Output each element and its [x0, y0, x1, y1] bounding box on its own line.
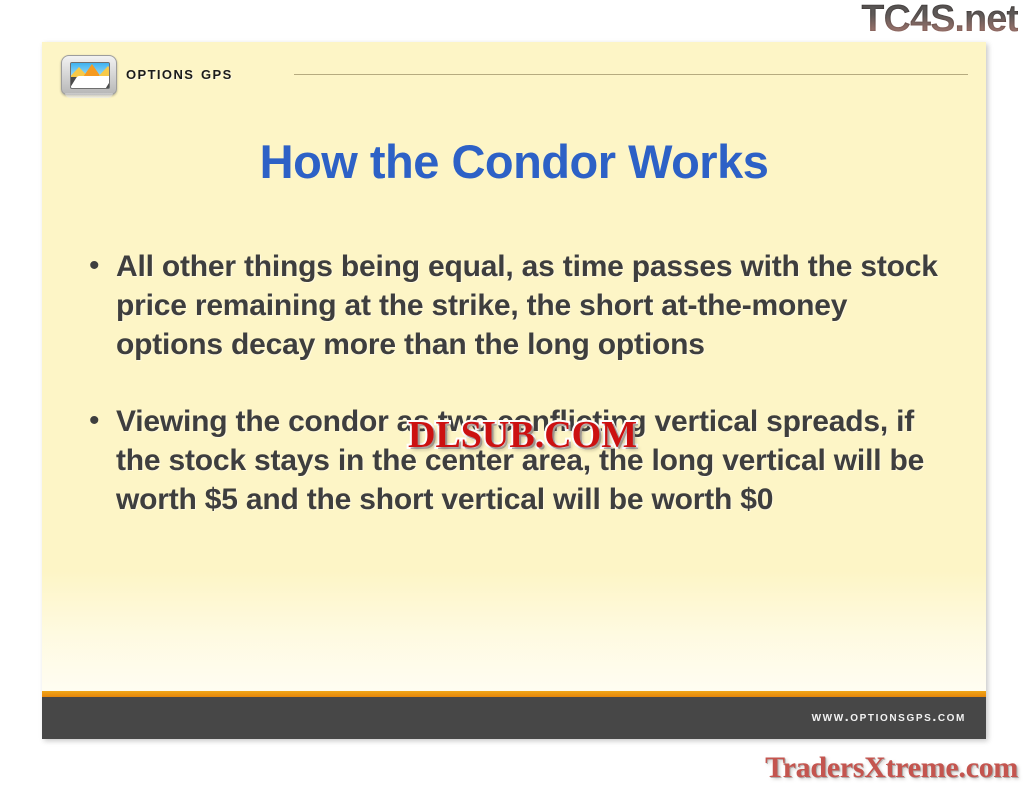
presentation-slide: Options GPS How the Condor Works • All o…	[42, 42, 986, 739]
dlsub-watermark: DLSUB.COM	[408, 415, 637, 455]
bullet-list: • All other things being equal, as time …	[86, 247, 958, 557]
map-road	[70, 76, 110, 89]
tradersxtreme-watermark: TradersXtreme.com	[765, 751, 1018, 785]
gps-device-screen	[70, 62, 110, 89]
gps-device-body	[61, 55, 117, 95]
page-title: How the Condor Works	[42, 134, 986, 189]
gps-device-icon	[61, 55, 117, 99]
brand-name: Options GPS	[126, 63, 233, 85]
list-item: • All other things being equal, as time …	[86, 247, 958, 364]
footer-website-url: www.OptionsGPS.com	[812, 708, 966, 724]
bullet-text: All other things being equal, as time pa…	[116, 247, 958, 364]
bullet-marker: •	[86, 402, 116, 440]
header-divider	[294, 74, 968, 75]
slide-header: Options GPS	[42, 42, 986, 108]
bullet-marker: •	[86, 247, 116, 285]
footer-bar: www.OptionsGPS.com	[42, 697, 986, 739]
slide-background-fade	[42, 571, 986, 691]
gps-device-reflection	[65, 93, 113, 98]
slide-footer: www.OptionsGPS.com	[42, 691, 986, 739]
tc4s-site-watermark: TC4S.net	[861, 0, 1018, 40]
